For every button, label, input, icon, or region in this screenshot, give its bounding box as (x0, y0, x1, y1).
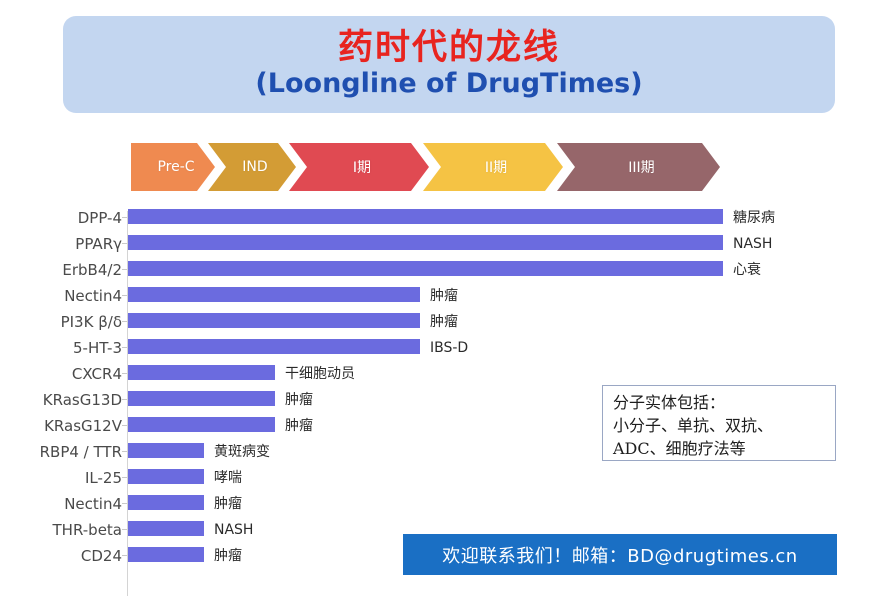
chart-bar-indication: 哮喘 (214, 465, 242, 491)
header-banner: 药时代的龙线 (Loongline of DrugTimes) (63, 16, 835, 113)
chart-row-tick (122, 373, 127, 374)
chart-row-label: Nectin4 (64, 283, 122, 309)
phase-arrow-4[interactable]: II期 (423, 143, 563, 191)
page-title-cn: 药时代的龙线 (338, 30, 560, 67)
phase-arrow-5[interactable]: III期 (557, 143, 720, 191)
chart-bar[interactable] (128, 287, 420, 302)
chart-bar[interactable] (128, 443, 204, 458)
chart-bar[interactable] (128, 339, 420, 354)
note-line-3: ADC、细胞疗法等 (613, 437, 827, 460)
chart-bar-indication: 干细胞动员 (285, 361, 355, 387)
chart-row-label: KRasG13D (43, 387, 122, 413)
chart-row-tick (122, 477, 127, 478)
chart-bar[interactable] (128, 261, 723, 276)
chart-bar-indication: 肿瘤 (285, 387, 313, 413)
chart-row-tick (122, 347, 127, 348)
molecule-note-box: 分子实体包括： 小分子、单抗、双抗、 ADC、细胞疗法等 (602, 385, 836, 461)
chart-row-label: ErbB4/2 (62, 257, 122, 283)
chart-row-label: RBP4 / TTR (40, 439, 122, 465)
chart-bar-indication: 心衰 (733, 257, 761, 283)
contact-banner[interactable]: 欢迎联系我们！邮箱：BD@drugtimes.cn (403, 534, 837, 575)
chart-bar[interactable] (128, 547, 204, 562)
chart-row: 5-HT-3IBS-D (0, 335, 878, 361)
note-line-1: 分子实体包括： (613, 391, 827, 414)
chart-bar-indication: 肿瘤 (430, 309, 458, 335)
chart-row-tick (122, 321, 127, 322)
chart-row: Nectin4肿瘤 (0, 283, 878, 309)
chart-row-label: IL-25 (85, 465, 122, 491)
chart-row: PPARγNASH (0, 231, 878, 257)
chart-row-tick (122, 555, 127, 556)
chart-bar[interactable] (128, 209, 723, 224)
chart-bar-indication: 肿瘤 (214, 543, 242, 569)
chart-row-tick (122, 503, 127, 504)
chart-bar-indication: IBS-D (430, 335, 468, 361)
chart-bar[interactable] (128, 417, 275, 432)
chart-row-label: Nectin4 (64, 491, 122, 517)
phase-arrow-label: III期 (622, 157, 654, 177)
chart-row: IL-25哮喘 (0, 465, 878, 491)
chart-row: DPP-4糖尿病 (0, 205, 878, 231)
phase-arrow-3[interactable]: I期 (289, 143, 429, 191)
chart-row: PI3K β/δ肿瘤 (0, 309, 878, 335)
chart-row-label: DPP-4 (78, 205, 122, 231)
chart-bar[interactable] (128, 391, 275, 406)
chart-row-label: KRasG12V (44, 413, 122, 439)
chart-row-label: PI3K β/δ (61, 309, 122, 335)
slide-root: 药时代的龙线 (Loongline of DrugTimes) Pre-CIND… (0, 0, 878, 608)
chart-row-label: CXCR4 (72, 361, 122, 387)
chart-bar[interactable] (128, 521, 204, 536)
phase-arrow-label: II期 (479, 157, 507, 177)
chart-row-tick (122, 451, 127, 452)
note-line-2: 小分子、单抗、双抗、 (613, 414, 827, 437)
chart-row-label: 5-HT-3 (73, 335, 122, 361)
chart-bar-indication: 肿瘤 (430, 283, 458, 309)
chart-row-tick (122, 529, 127, 530)
phase-arrow-label: Pre-C (151, 159, 194, 175)
chart-row-tick (122, 217, 127, 218)
phase-arrow-label: IND (236, 159, 267, 175)
phase-arrow-2[interactable]: IND (208, 143, 296, 191)
chart-row-tick (122, 425, 127, 426)
chart-bar[interactable] (128, 313, 420, 328)
phase-arrow-1[interactable]: Pre-C (131, 143, 215, 191)
chart-bar-indication: 肿瘤 (285, 413, 313, 439)
phase-arrow-track: Pre-CINDI期II期III期 (131, 143, 731, 191)
page-title-en: (Loongline of DrugTimes) (255, 69, 642, 99)
chart-bar[interactable] (128, 365, 275, 380)
chart-bar-indication: 糖尿病 (733, 205, 775, 231)
contact-text: 欢迎联系我们！邮箱：BD@drugtimes.cn (442, 542, 797, 568)
chart-bar[interactable] (128, 235, 723, 250)
chart-row-tick (122, 399, 127, 400)
phase-arrow-label: I期 (347, 157, 371, 177)
chart-bar[interactable] (128, 469, 204, 484)
chart-bar[interactable] (128, 495, 204, 510)
chart-row-tick (122, 243, 127, 244)
chart-row-label: THR-beta (53, 517, 123, 543)
chart-bar-indication: NASH (214, 517, 253, 543)
chart-row-label: PPARγ (75, 231, 122, 257)
chart-row-label: CD24 (81, 543, 122, 569)
chart-row: Nectin4肿瘤 (0, 491, 878, 517)
chart-bar-indication: 黄斑病变 (214, 439, 270, 465)
chart-row: ErbB4/2心衰 (0, 257, 878, 283)
chart-bar-indication: NASH (733, 231, 772, 257)
chart-row: CXCR4干细胞动员 (0, 361, 878, 387)
chart-bar-indication: 肿瘤 (214, 491, 242, 517)
chart-row-tick (122, 295, 127, 296)
chart-row-tick (122, 269, 127, 270)
